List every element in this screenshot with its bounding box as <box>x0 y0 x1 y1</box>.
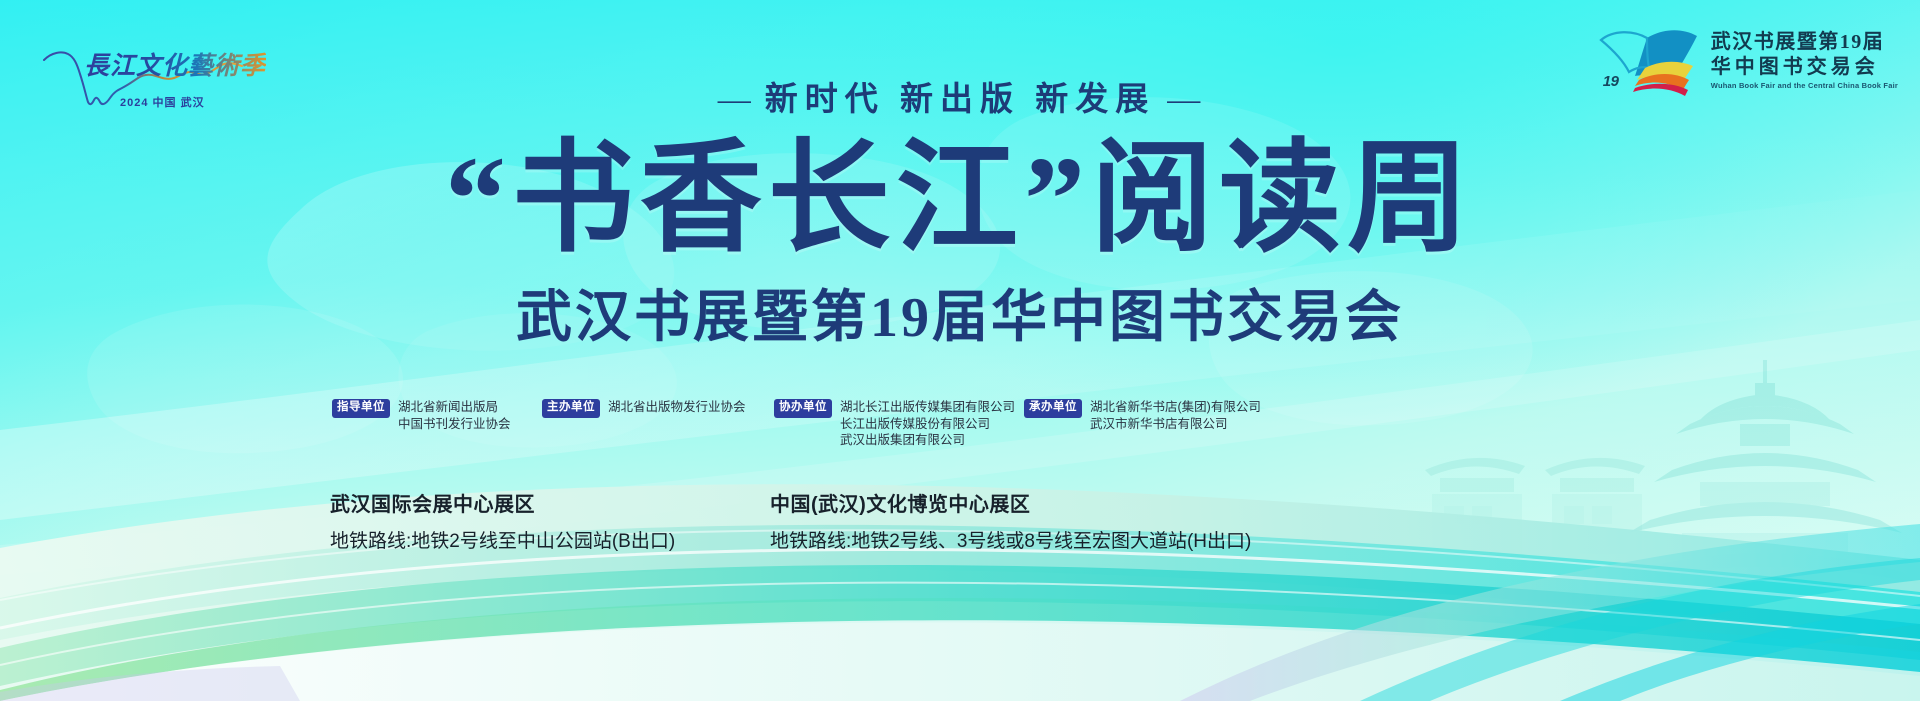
credit-org: 湖北省出版物发行业协会 <box>608 399 746 416</box>
credit-block-guidance: 指导单位 湖北省新闻出版局 中国书刊发行业协会 <box>332 399 542 432</box>
logo-right-line1: 武汉书展暨第19届 <box>1711 32 1898 52</box>
credits-row: 指导单位 湖北省新闻出版局 中国书刊发行业协会 主办单位 湖北省出版物发行业协会… <box>332 399 1592 449</box>
credit-block-host: 主办单位 湖北省出版物发行业协会 <box>542 399 774 418</box>
tagline-dash-left: — <box>706 82 765 118</box>
credit-block-cohost: 协办单位 湖北长江出版传媒集团有限公司 长江出版传媒股份有限公司 武汉出版集团有… <box>774 399 1024 449</box>
credit-tag: 协办单位 <box>774 399 832 418</box>
credit-tag: 承办单位 <box>1024 399 1082 418</box>
venue-block-1: 武汉国际会展中心展区 地铁路线:地铁2号线至中山公园站(B出口) <box>330 488 675 553</box>
credit-org: 长江出版传媒股份有限公司 <box>840 416 1015 433</box>
venue-metro-route: 地铁路线:地铁2号线、3号线或8号线至宏图大道站(H出口) <box>770 526 1251 553</box>
tagline-dash-right: — <box>1155 82 1214 118</box>
credit-org-list: 湖北省新闻出版局 中国书刊发行业协会 <box>398 399 511 432</box>
credit-block-organizer: 承办单位 湖北省新华书店(集团)有限公司 武汉市新华书店有限公司 <box>1024 399 1261 432</box>
credit-org-list: 湖北省新华书店(集团)有限公司 武汉市新华书店有限公司 <box>1090 399 1261 432</box>
credit-tag: 主办单位 <box>542 399 600 418</box>
credit-org: 湖北省新闻出版局 <box>398 399 511 416</box>
credit-org: 武汉出版集团有限公司 <box>840 432 1015 449</box>
credit-org-list: 湖北长江出版传媒集团有限公司 长江出版传媒股份有限公司 武汉出版集团有限公司 <box>840 399 1015 449</box>
credit-org: 中国书刊发行业协会 <box>398 416 511 433</box>
sub-title: 武汉书展暨第19届华中图书交易会 <box>0 272 1920 353</box>
credit-tag: 指导单位 <box>332 399 390 418</box>
venue-name: 中国(武汉)文化博览中心展区 <box>770 488 1251 517</box>
tagline-text: 新时代 新出版 新发展 <box>765 82 1156 118</box>
credit-org: 武汉市新华书店有限公司 <box>1090 416 1261 433</box>
poster-canvas: 長江文化藝術季 2024 中国 武汉 19 武汉书展暨第19届 华中图书交易会 … <box>0 0 1920 701</box>
venue-metro-route: 地铁路线:地铁2号线至中山公园站(B出口) <box>330 526 675 553</box>
credit-org: 湖北长江出版传媒集团有限公司 <box>840 399 1015 416</box>
credit-org: 湖北省新华书店(集团)有限公司 <box>1090 399 1261 416</box>
main-title: “书香长江”阅读周 <box>0 138 1920 262</box>
venue-block-2: 中国(武汉)文化博览中心展区 地铁路线:地铁2号线、3号线或8号线至宏图大道站(… <box>770 488 1251 553</box>
venue-name: 武汉国际会展中心展区 <box>330 488 675 517</box>
credit-org-list: 湖北省出版物发行业协会 <box>608 399 746 416</box>
tagline: —新时代 新出版 新发展— <box>0 72 1920 120</box>
